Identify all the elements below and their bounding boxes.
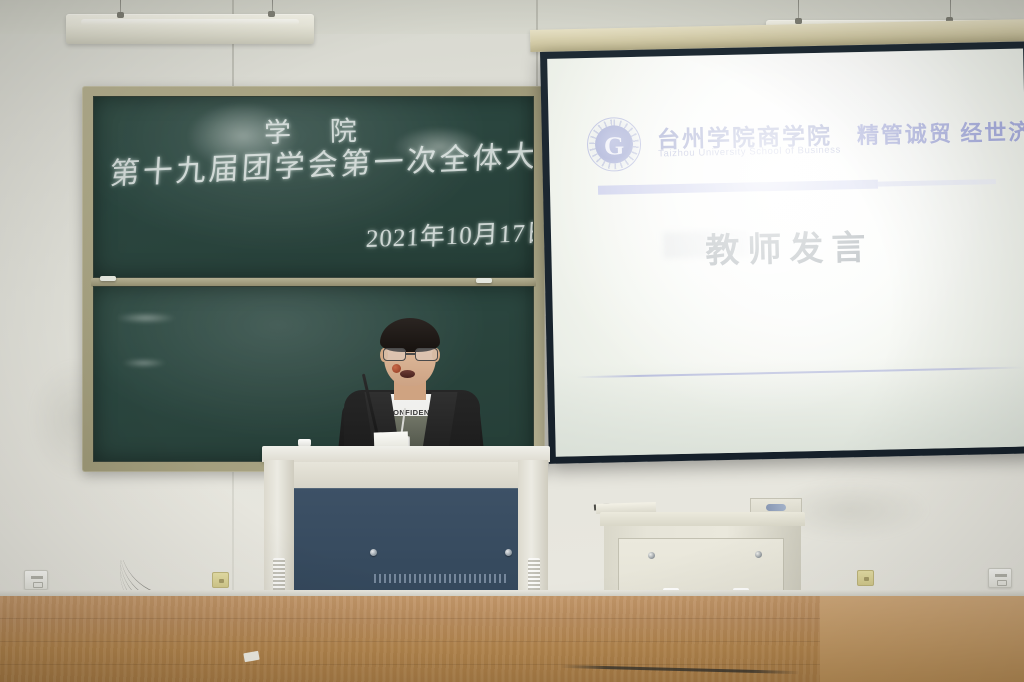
blackboard-panel-upper: 学 院 第十九届团学会第一次全体大会 2021年10月17日: [93, 96, 534, 278]
glasses-bridge: [406, 353, 415, 355]
podium-upper-band: [268, 462, 544, 488]
slide-accent-bar: [598, 180, 878, 195]
light-cap-left-b: [268, 11, 275, 17]
cabinet-lock-right[interactable]: [755, 551, 762, 558]
chalk-smear-b: [122, 359, 166, 367]
podium-top-surface: [262, 446, 550, 462]
projection-screen-frame: 台州学院商学院 Taizhou University School of Bus…: [540, 41, 1024, 464]
glasses-lens-right: [415, 348, 438, 361]
school-logo-icon: [586, 117, 641, 172]
podium-vent-slots-upper: [374, 574, 506, 583]
speaker-person: CONFIDENT: [330, 312, 492, 462]
cabinet-riser-label: [766, 504, 786, 511]
chalk-smear-a: [116, 313, 176, 323]
lecture-hall-scene: 学 院 第十九届团学会第一次全体大会 2021年10月17日 台州学院商学院 T…: [0, 0, 1024, 682]
logo-ring-dots: [588, 119, 639, 170]
cabinet-lock-left[interactable]: [648, 552, 655, 559]
projection-screen-surface: 台州学院商学院 Taizhou University School of Bus…: [547, 48, 1024, 456]
screen-shadow-bottom: [554, 354, 1024, 456]
chalk-piece-right: [476, 278, 492, 283]
glasses-icon: [380, 348, 442, 361]
blackboard-line-3: 2021年10月17日: [365, 212, 534, 255]
glasses-lens-left: [383, 348, 406, 361]
speaker-hair: [380, 318, 440, 352]
slide-title: 教师发言: [551, 216, 1024, 275]
wall-plate-yellow-right: [857, 570, 874, 586]
floor-right-section: [820, 596, 1024, 682]
cabinet-top-surface: [600, 512, 805, 526]
chalk-piece-left: [100, 276, 116, 281]
podium-screw-right: [505, 549, 512, 556]
light-cap-left-a: [117, 12, 124, 18]
ceiling-light-left: [66, 14, 314, 44]
slide-slogan: 精管诚贸 经世济民: [857, 114, 1024, 150]
wall-outlet-right[interactable]: [988, 568, 1012, 588]
blackboard-line-2: 第十九届团学会第一次全体大会: [109, 130, 534, 194]
speaker-mouth: [400, 370, 415, 378]
microphone-icon: [392, 364, 401, 373]
podium-screw-left: [370, 549, 377, 556]
wall-switch-left[interactable]: [24, 570, 48, 590]
slide-accent-bar-secondary: [878, 179, 996, 187]
